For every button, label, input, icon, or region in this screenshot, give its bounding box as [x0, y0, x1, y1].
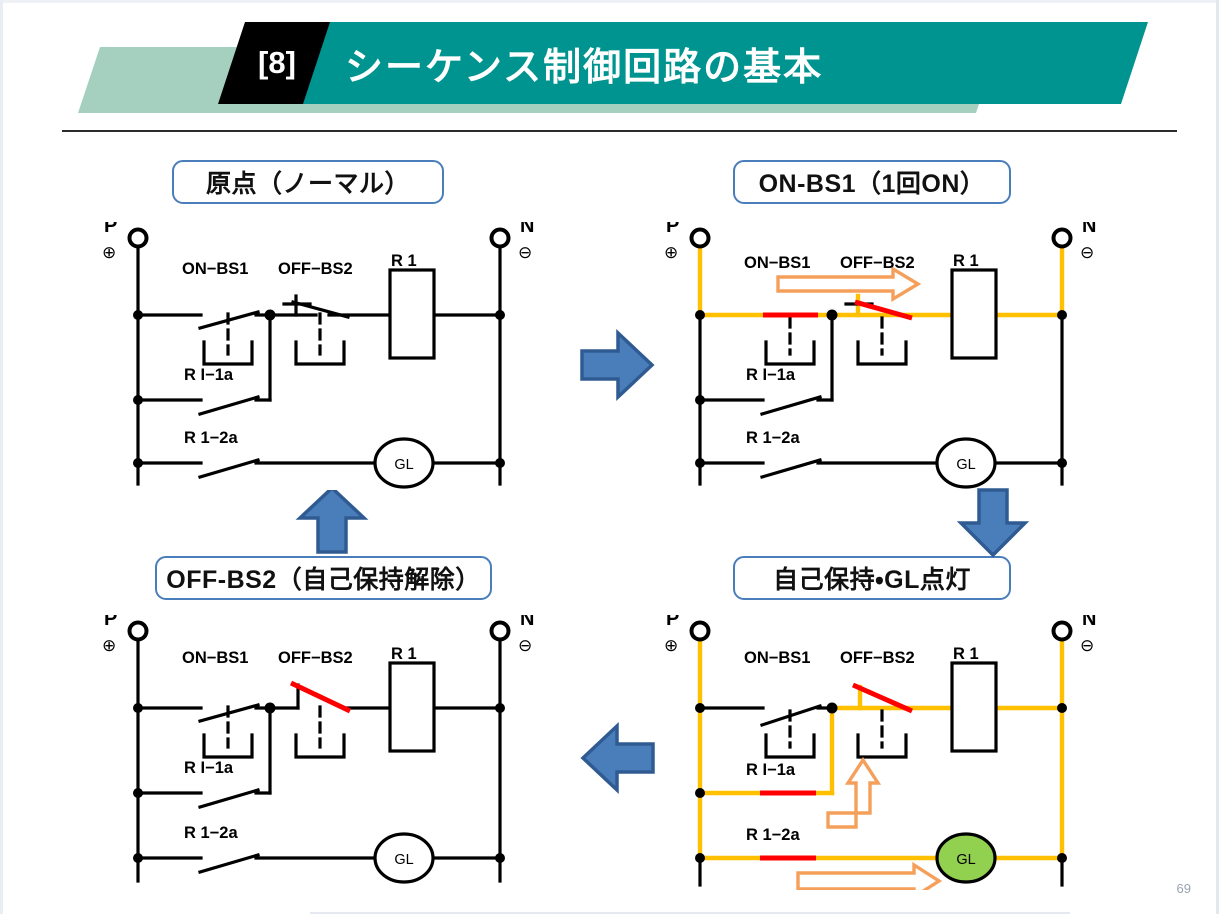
label-gl: GL: [956, 457, 975, 473]
header-divider: [62, 130, 1177, 132]
arrow-origin-to-on: [578, 325, 658, 405]
label-n: N: [520, 222, 534, 237]
sign-plus: ⊕: [102, 636, 116, 655]
terminal-n: [492, 230, 509, 247]
label-p: P: [666, 222, 679, 237]
label-on-bs1: ON−BS1: [744, 254, 810, 272]
hint-arrow-rung1-right: [778, 269, 918, 299]
label-off-bs2: OFF−BS2: [840, 649, 915, 667]
label-gl: GL: [956, 852, 975, 868]
sign-minus: ⊖: [1080, 243, 1094, 262]
label-on-bs1: ON−BS1: [182, 260, 248, 278]
contact-r1-1a: [200, 790, 258, 807]
label-on-bs1: ON−BS1: [744, 649, 810, 667]
label-r1-1a: R I−1a: [184, 366, 234, 384]
sign-plus: ⊕: [664, 243, 678, 262]
slide-root: [8] シーケンス制御回路の基本 原点（ノーマル） ON-BS1（1回ON） O…: [0, 0, 1219, 914]
contact-r1-2a: [762, 460, 820, 477]
label-r1-1a: R I−1a: [746, 366, 796, 384]
terminal-n: [1054, 230, 1071, 247]
label-r1-2a: R 1−2a: [746, 429, 800, 447]
relay-coil-r1: [952, 663, 996, 751]
sign-minus: ⊖: [1080, 636, 1094, 655]
hint-arrow-rung3-right: [798, 865, 939, 890]
sign-plus: ⊕: [102, 243, 116, 262]
label-r1: R 1: [953, 645, 979, 663]
label-off-bs2: OFF−BS2: [840, 254, 915, 272]
circuit-origin: P ⊕ N ⊖ ON−BS1 OFF−BS2 R 1 R I−1a R 1−2a…: [88, 222, 568, 497]
label-r1: R 1: [953, 252, 979, 270]
label-r1: R 1: [391, 645, 417, 663]
label-r1-2a: R 1−2a: [184, 429, 238, 447]
circuit-self-hold: P ⊕ N ⊖ ON−BS1 OFF−BS2 R 1 R I−1a R 1−2a…: [650, 615, 1130, 895]
panel-title-self-hold: 自己保持・GL点灯: [733, 556, 1011, 600]
label-p: P: [666, 615, 679, 630]
hint-arrow-rung2-up: [828, 760, 878, 827]
label-r1-2a: R 1−2a: [184, 824, 238, 842]
contact-r1-2a: [200, 460, 258, 477]
label-r1-1a: R I−1a: [184, 759, 234, 777]
panel-title-off-bs2: OFF-BS2（自己保持解除）: [155, 556, 492, 600]
label-gl: GL: [394, 457, 413, 473]
terminal-n: [1054, 623, 1071, 640]
contact-r1-2a: [200, 855, 258, 872]
sign-minus: ⊖: [518, 243, 532, 262]
label-on-bs1: ON−BS1: [182, 649, 248, 667]
terminal-p: [130, 623, 147, 640]
label-r1-2a: R 1−2a: [746, 826, 800, 844]
terminal-n: [492, 623, 509, 640]
contact-r1-1a: [200, 397, 258, 414]
sign-minus: ⊖: [518, 636, 532, 655]
label-n: N: [520, 615, 534, 630]
sign-plus: ⊕: [664, 636, 678, 655]
terminal-p: [692, 623, 709, 640]
panel-title-on-bs1: ON-BS1（1回ON）: [733, 160, 1011, 204]
label-off-bs2: OFF−BS2: [278, 649, 353, 667]
circuit-on-bs1: P ⊕ N ⊖ ON−BS1 OFF−BS2 R 1 R I−1a R 1−2a…: [650, 222, 1130, 497]
slide-edge-left: [0, 0, 3, 914]
label-n: N: [1082, 615, 1096, 630]
relay-coil-r1: [390, 663, 434, 751]
arrow-on-to-hold: [955, 487, 1035, 559]
label-r1-1a: R I−1a: [746, 761, 796, 779]
contact-r1-1a: [762, 397, 820, 414]
label-off-bs2: OFF−BS2: [278, 260, 353, 278]
label-n: N: [1082, 222, 1096, 237]
circuit-off-bs2: P ⊕ N ⊖ ON−BS1 OFF−BS2 R 1 R I−1a R 1−2a…: [88, 615, 568, 895]
arrow-hold-to-off: [575, 718, 660, 798]
relay-coil-r1: [952, 270, 996, 358]
page-number: 69: [1177, 881, 1191, 896]
terminal-p: [130, 230, 147, 247]
arrow-off-to-origin: [292, 490, 372, 556]
panel-title-origin: 原点（ノーマル）: [172, 160, 444, 204]
page-title: シーケンス制御回路の基本: [345, 22, 823, 104]
label-gl: GL: [394, 852, 413, 868]
label-p: P: [104, 222, 117, 237]
header-number-tag: [8]: [218, 22, 330, 104]
label-r1: R 1: [391, 252, 417, 270]
label-p: P: [104, 615, 117, 630]
slide-edge-top: [0, 0, 1219, 3]
terminal-p: [692, 230, 709, 247]
relay-coil-r1: [390, 270, 434, 358]
